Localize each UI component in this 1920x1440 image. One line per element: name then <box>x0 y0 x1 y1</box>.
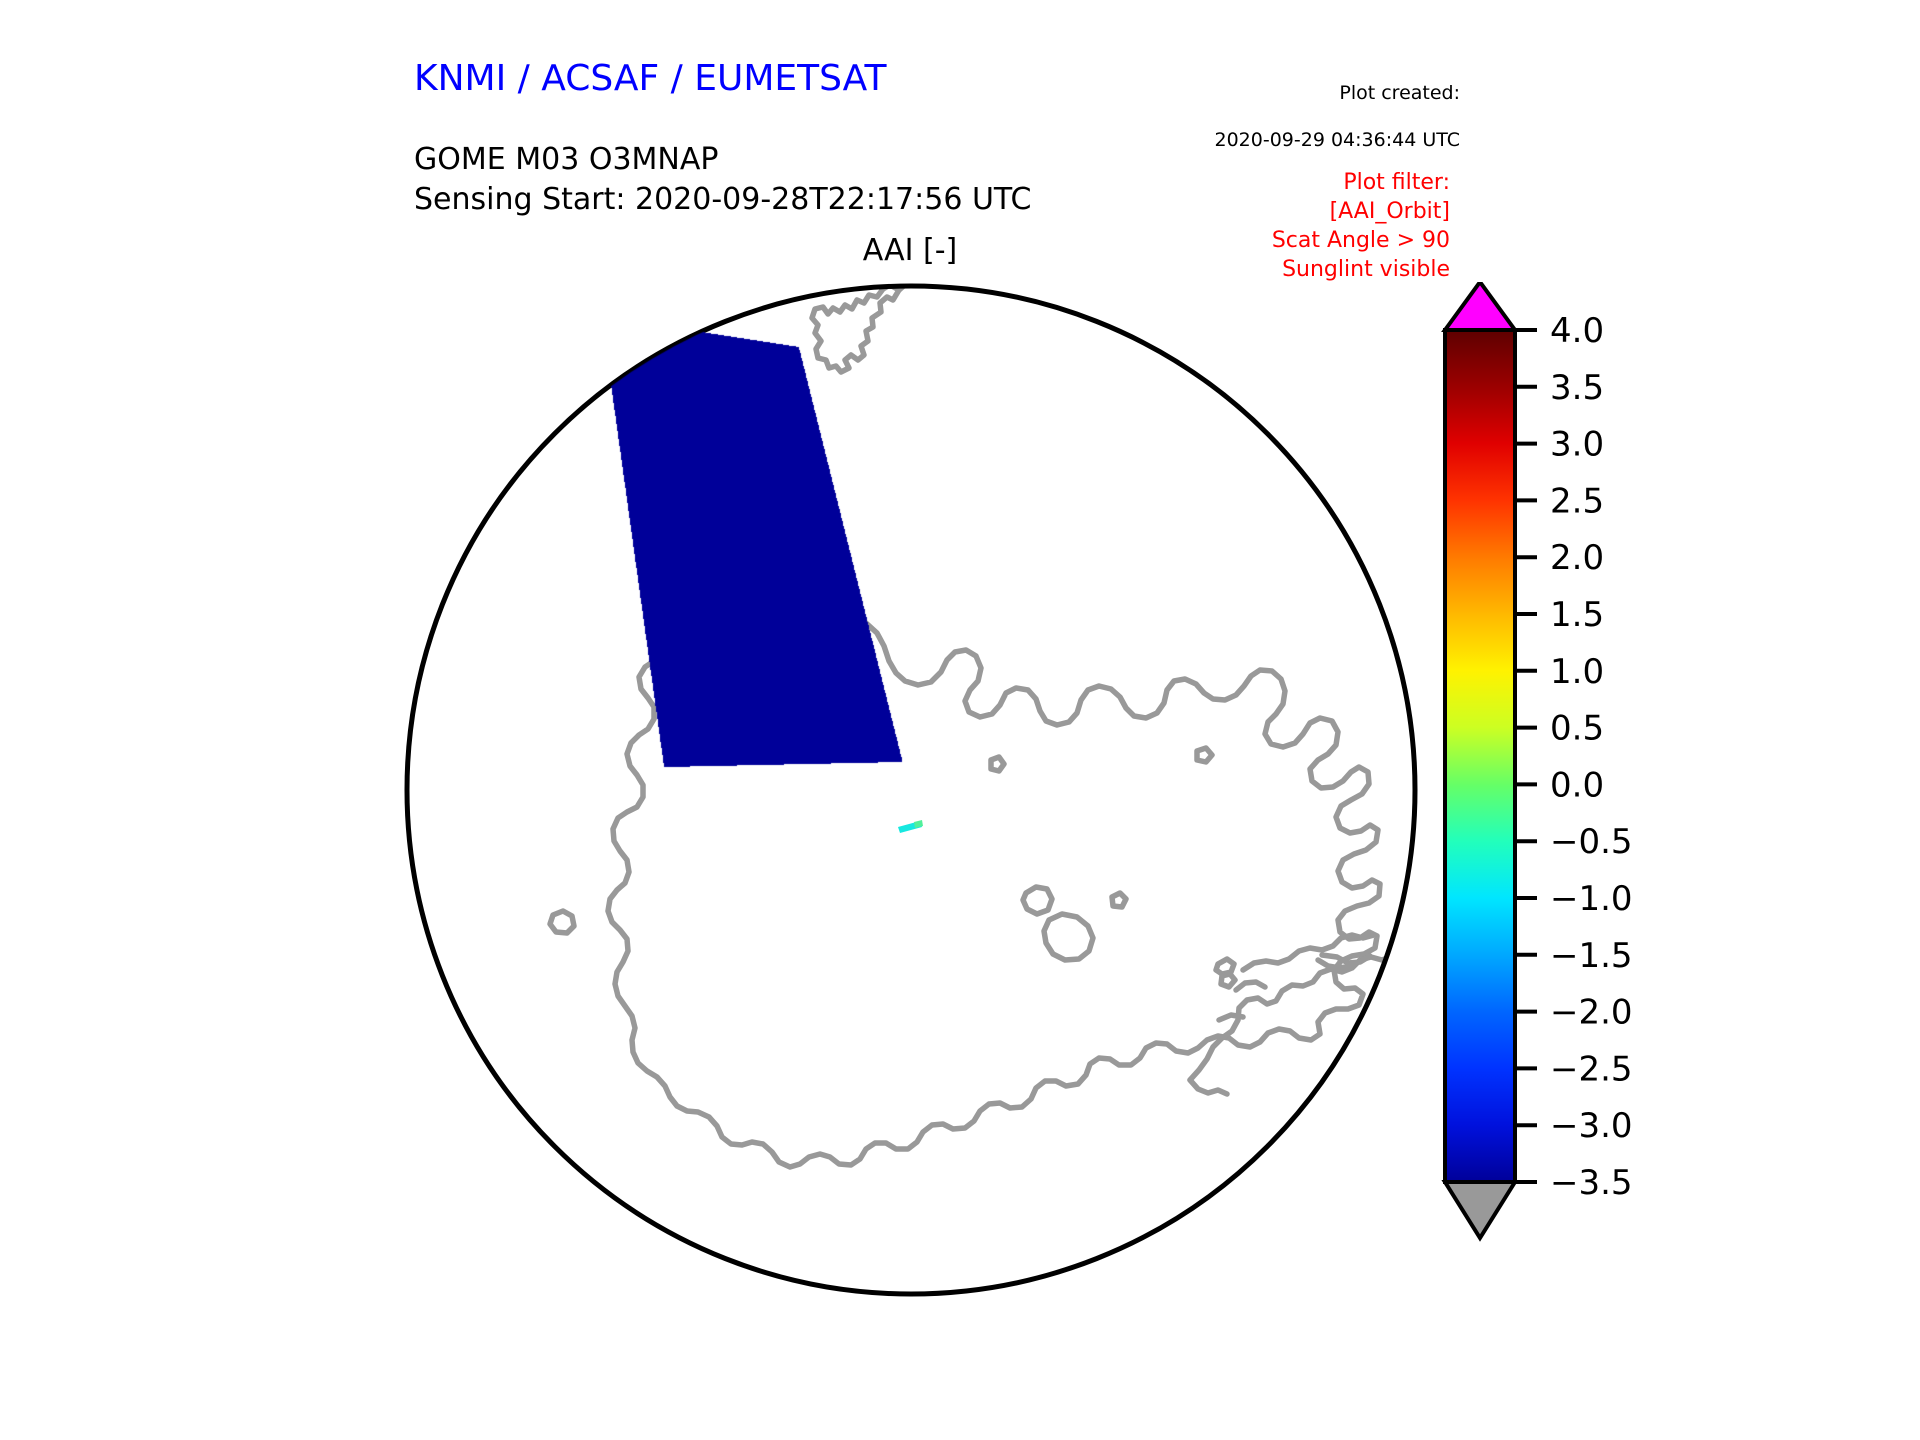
colorbar-tick-label: 3.0 <box>1550 425 1604 465</box>
coastline <box>550 245 1392 1167</box>
colorbar-tick-label: −1.0 <box>1550 879 1633 919</box>
colorbar-tick-label: 4.0 <box>1550 311 1604 351</box>
swath-fragment <box>898 820 923 833</box>
plot-page: KNMI / ACSAF / EUMETSAT Plot created: 20… <box>0 0 1920 1440</box>
colorbar-tick-label: −2.5 <box>1550 1049 1633 1089</box>
colorbar-tick-label: 2.5 <box>1550 481 1604 521</box>
colorbar-tick-label: −1.5 <box>1550 936 1633 976</box>
colorbar-tick-label: −2.0 <box>1550 993 1633 1033</box>
globe-outline <box>407 286 1415 1294</box>
colorbar-tick-label: 2.0 <box>1550 538 1604 578</box>
colorbar-over-arrow <box>1445 282 1515 330</box>
colorbar-gradient <box>1445 330 1515 1182</box>
colorbar-tick-label: −3.5 <box>1550 1163 1633 1203</box>
colorbar-tick-label: 1.5 <box>1550 595 1604 635</box>
colorbar[interactable]: 4.03.53.02.52.01.51.00.50.0−0.5−1.0−1.5−… <box>1434 282 1674 1302</box>
colorbar-tick-label: −0.5 <box>1550 822 1633 862</box>
colorbar-tick-label: 0.0 <box>1550 765 1604 805</box>
colorbar-tick-label: 0.5 <box>1550 709 1604 749</box>
colorbar-ticks: 4.03.53.02.52.01.51.00.50.0−0.5−1.0−1.5−… <box>1515 311 1633 1203</box>
colorbar-tick-label: 1.0 <box>1550 652 1604 692</box>
colorbar-tick-label: −3.0 <box>1550 1106 1633 1146</box>
colorbar-under-arrow <box>1445 1182 1515 1238</box>
colorbar-tick-label: 3.5 <box>1550 368 1604 408</box>
